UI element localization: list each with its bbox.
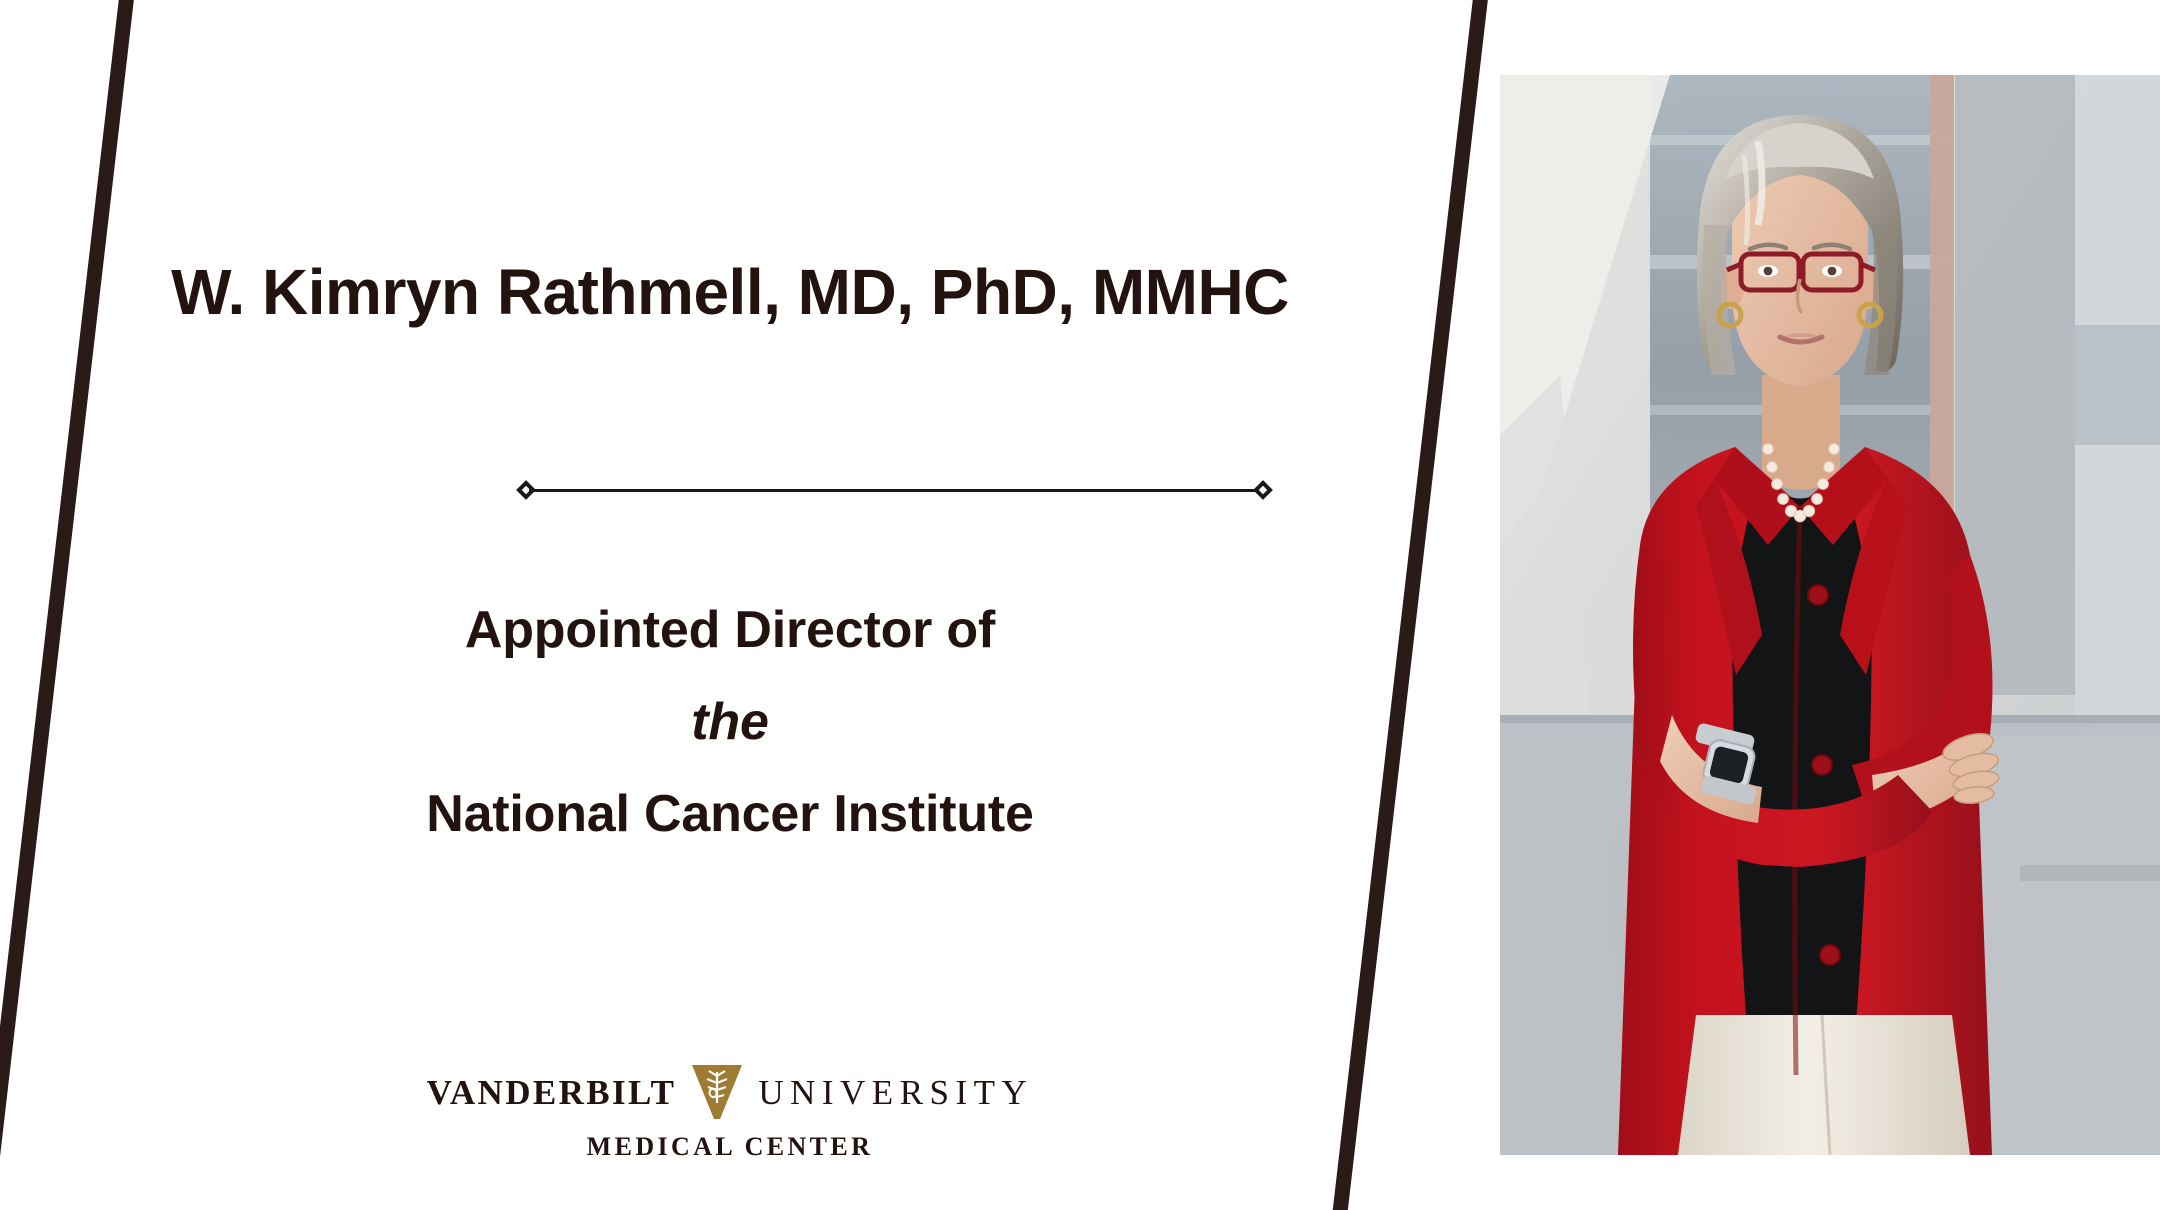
text-column: W. Kimryn Rathmell, MD, PhD, MMHC Appoin… <box>150 0 1310 1210</box>
diagonal-stripe-left <box>0 0 143 1210</box>
page-title: W. Kimryn Rathmell, MD, PhD, MMHC <box>150 255 1310 329</box>
divider-rule <box>529 489 1260 492</box>
portrait-illustration <box>1500 75 2160 1155</box>
subtitle-line-1: Appointed Director of <box>150 600 1310 660</box>
vanderbilt-v-oak-leaf-icon <box>690 1063 744 1121</box>
subtitle-line-3: National Cancer Institute <box>150 784 1310 844</box>
diamond-endcap-right-icon <box>1253 480 1273 500</box>
logo-wordmark-university: UNIVERSITY <box>758 1075 1033 1110</box>
subtitle-line-2: the <box>150 692 1310 752</box>
logo-subline-medical-center: MEDICAL CENTER <box>150 1132 1310 1162</box>
logo-wordmark-vanderbilt: VANDERBILT <box>427 1075 677 1110</box>
portrait-photo <box>1500 75 2160 1155</box>
logo-primary-row: VANDERBILT UNIVERSITY <box>150 1060 1310 1124</box>
diamond-divider <box>519 478 1270 502</box>
vanderbilt-logo: VANDERBILT UNIVERSITY MEDICAL CENTER <box>150 1060 1310 1162</box>
diagonal-stripe-right <box>1321 0 1497 1210</box>
presentation-slide: W. Kimryn Rathmell, MD, PhD, MMHC Appoin… <box>0 0 2160 1210</box>
